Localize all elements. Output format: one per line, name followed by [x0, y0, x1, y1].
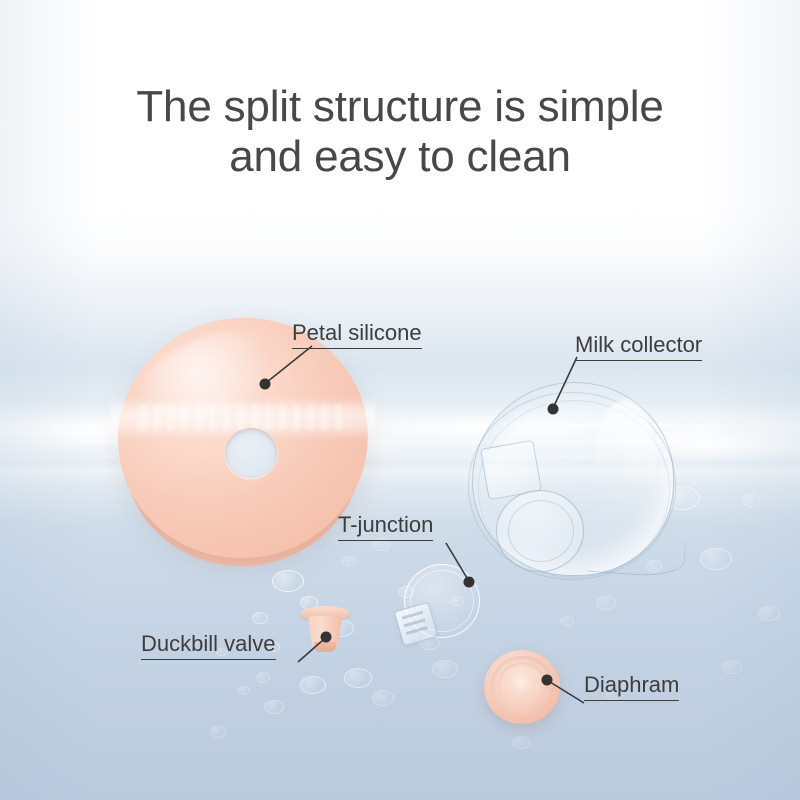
label-duckbill-valve: Duckbill valve [141, 631, 276, 660]
t-junction-rib-1 [401, 611, 423, 620]
label-t-junction: T-junction [338, 512, 433, 541]
page-title-line-1: The split structure is simple [136, 82, 663, 131]
duckbill-tip [314, 642, 336, 652]
label-t-junction-text: T-junction [338, 512, 433, 537]
petal-center-hole [225, 428, 277, 478]
label-duckbill-valve-rule [141, 659, 276, 660]
t-junction-rib-3 [406, 626, 428, 635]
part-duckbill-valve [300, 604, 352, 656]
collector-spout-edge [587, 537, 686, 579]
label-milk-collector: Milk collector [575, 332, 702, 361]
part-diaphram [484, 650, 560, 724]
label-duckbill-valve-text: Duckbill valve [141, 631, 276, 656]
label-petal-silicone-text: Petal silicone [292, 320, 422, 345]
label-petal-silicone-rule [292, 348, 422, 349]
label-milk-collector-rule [575, 360, 702, 361]
label-petal-silicone: Petal silicone [292, 320, 422, 349]
label-diaphram: Diaphram [584, 672, 679, 701]
t-junction-rib-2 [404, 618, 426, 627]
diaphram-ring-4 [511, 674, 533, 695]
infographic-canvas: The split structure is simple and easy t… [0, 0, 800, 800]
part-milk-collector [468, 382, 680, 582]
part-t-junction [392, 562, 484, 654]
label-diaphram-rule [584, 700, 679, 701]
collector-highlight [594, 400, 656, 520]
collector-neck-inner-ring [508, 500, 574, 562]
page-title: The split structure is simple and easy t… [0, 82, 800, 182]
label-t-junction-rule [338, 540, 433, 541]
page-title-line-2: and easy to clean [0, 132, 800, 182]
part-petal-silicone [118, 318, 368, 558]
petal-refraction-streaks [136, 404, 350, 430]
label-diaphram-text: Diaphram [584, 672, 679, 697]
label-milk-collector-text: Milk collector [575, 332, 702, 357]
